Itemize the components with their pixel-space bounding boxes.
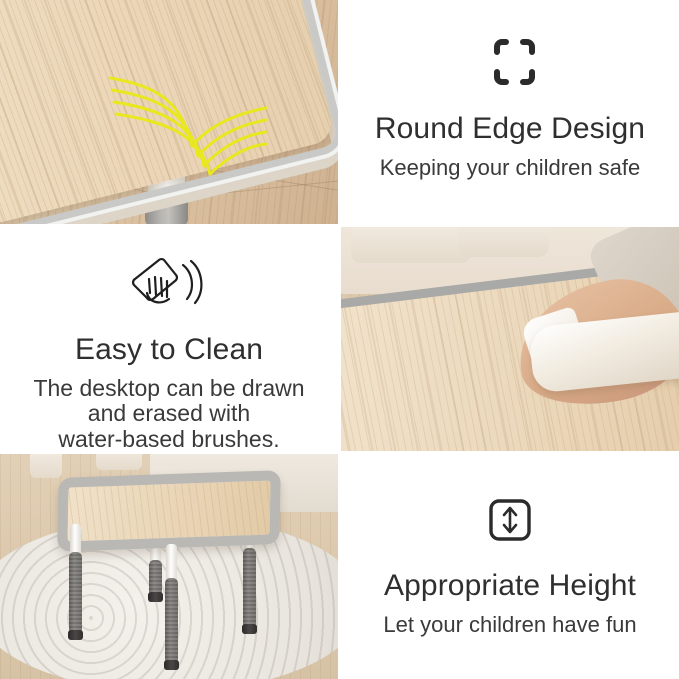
hand-wiping-cloth-icon: [129, 255, 209, 316]
easy-clean-title: Easy to Clean: [75, 333, 263, 368]
table-leg-rear-left-sleeve: [149, 560, 162, 596]
table-foot: [242, 624, 257, 634]
appropriate-height-photo-panel: [0, 454, 338, 679]
table-foot: [164, 660, 179, 670]
easy-clean-photo-panel: [341, 227, 679, 451]
feature-grid: Round Edge Design Keeping your children …: [0, 0, 679, 679]
table-desktop-surface: [57, 470, 281, 552]
round-edge-title: Round Edge Design: [375, 112, 645, 147]
furniture-leg: [96, 454, 142, 470]
table-leg-front-center-sleeve: [165, 578, 178, 664]
easy-clean-subtitle: The desktop can be drawn and erased with…: [33, 376, 304, 452]
table-leg-front-left-sleeve: [69, 552, 82, 634]
easy-clean-photo: [341, 227, 679, 451]
table-foot: [68, 630, 83, 640]
table-foot: [148, 592, 163, 602]
sofa-cushion: [459, 227, 549, 257]
appropriate-height-subtitle: Let your children have fun: [383, 613, 636, 638]
appropriate-height-title: Appropriate Height: [384, 569, 636, 604]
height-adjust-arrow-icon: [487, 497, 533, 548]
appropriate-height-text-panel: Appropriate Height Let your children hav…: [341, 454, 679, 679]
furniture-leg: [30, 454, 62, 478]
round-edge-subtitle: Keeping your children safe: [380, 156, 641, 181]
corner-brackets-icon: [482, 38, 538, 91]
round-edge-photo-panel: [0, 0, 338, 224]
table-leg-rear-right-sleeve: [243, 548, 256, 628]
round-edge-text-panel: Round Edge Design Keeping your children …: [341, 0, 679, 224]
round-edge-highlight-lines: [108, 74, 268, 184]
sofa-cushion: [351, 227, 471, 263]
easy-clean-text-panel: Easy to Clean The desktop can be drawn a…: [0, 227, 338, 451]
easy-clean-subtitle-line-1: The desktop can be drawn: [33, 376, 304, 402]
appropriate-height-photo: [0, 454, 338, 679]
round-edge-photo: [0, 0, 338, 224]
easy-clean-subtitle-line-3: water-based brushes.: [33, 427, 304, 451]
easy-clean-subtitle-line-2: and erased with: [33, 401, 304, 427]
